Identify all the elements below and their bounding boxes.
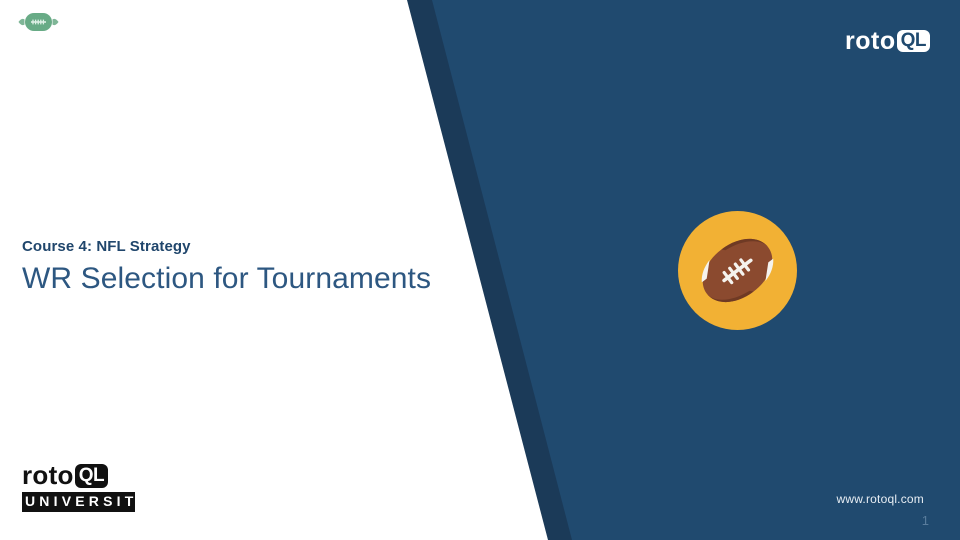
- slide-canvas: roto QL Course 4: NFL Strategy: [0, 0, 960, 540]
- brand-chip: QL: [75, 464, 108, 488]
- football-icon-hero: [678, 211, 797, 330]
- brand-logo-row: roto QL: [22, 462, 142, 489]
- page-number: 1: [922, 513, 929, 528]
- brand-wordmark: roto: [845, 28, 896, 54]
- title-block: Course 4: NFL Strategy WR Selection for …: [22, 238, 492, 298]
- footer-url: www.rotoql.com: [837, 492, 925, 506]
- brand-wordmark: roto: [22, 462, 74, 489]
- hero-football-badge: [678, 211, 797, 330]
- brand-sublabel: UNIVERSITY: [22, 492, 135, 512]
- brand-chip: QL: [897, 30, 930, 52]
- course-eyebrow: Course 4: NFL Strategy: [22, 238, 492, 256]
- brand-logo-top-right: roto QL: [845, 28, 930, 54]
- football-icon-small: [18, 11, 59, 33]
- slide-title: WR Selection for Tournaments: [22, 260, 492, 298]
- brand-logo-university: roto QL UNIVERSITY: [22, 462, 142, 512]
